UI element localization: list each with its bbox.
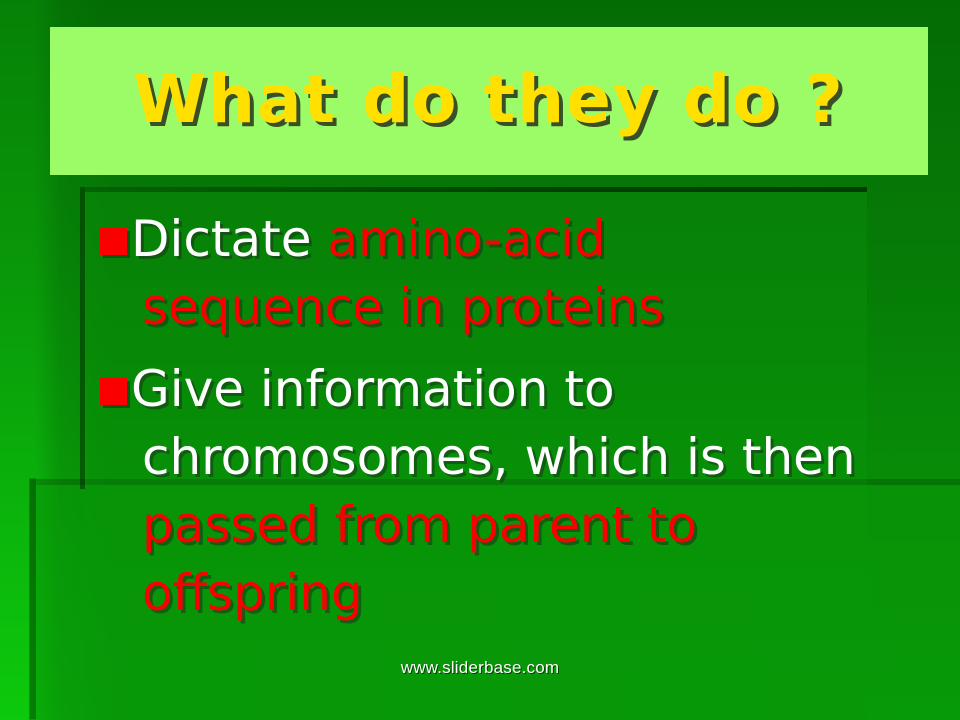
bullet-text-red: sequence in proteins [142,278,664,336]
red-square-bullet-icon [100,228,127,255]
footer-watermark: www.sliderbase.com [0,658,960,678]
bullet-line: chromosomes, which is then [100,423,920,491]
bullet-text-white: chromosomes, which is then [142,428,856,486]
content-panel-left-shadow [80,187,85,489]
slide-title: What do they do ? [50,61,928,138]
slide-body: Dictate amino-acid sequence in proteins … [100,205,920,641]
bullet-line: sequence in proteins [100,273,920,341]
title-banner: What do they do ? [50,27,928,175]
bullet-line: passed from parent to [100,491,920,559]
bullet-text-red: offspring [142,564,363,622]
bullet-line: Give information to [100,355,920,423]
bullet-text-red: amino-acid [327,210,605,268]
content-panel-top-shadow [85,187,867,192]
bullet-text-white: Dictate [131,210,327,268]
red-square-bullet-icon [100,378,127,405]
bullet-line: Dictate amino-acid [100,205,920,273]
bullet-text-white: Give information to [131,360,615,418]
bullet-text-red: passed from parent to [142,496,697,554]
presentation-slide: What do they do ? Dictate amino-acid seq… [0,0,960,720]
bullet-line: offspring [100,559,920,627]
bullet-item: Give information to chromosomes, which i… [100,355,920,627]
bullet-item: Dictate amino-acid sequence in proteins [100,205,920,341]
